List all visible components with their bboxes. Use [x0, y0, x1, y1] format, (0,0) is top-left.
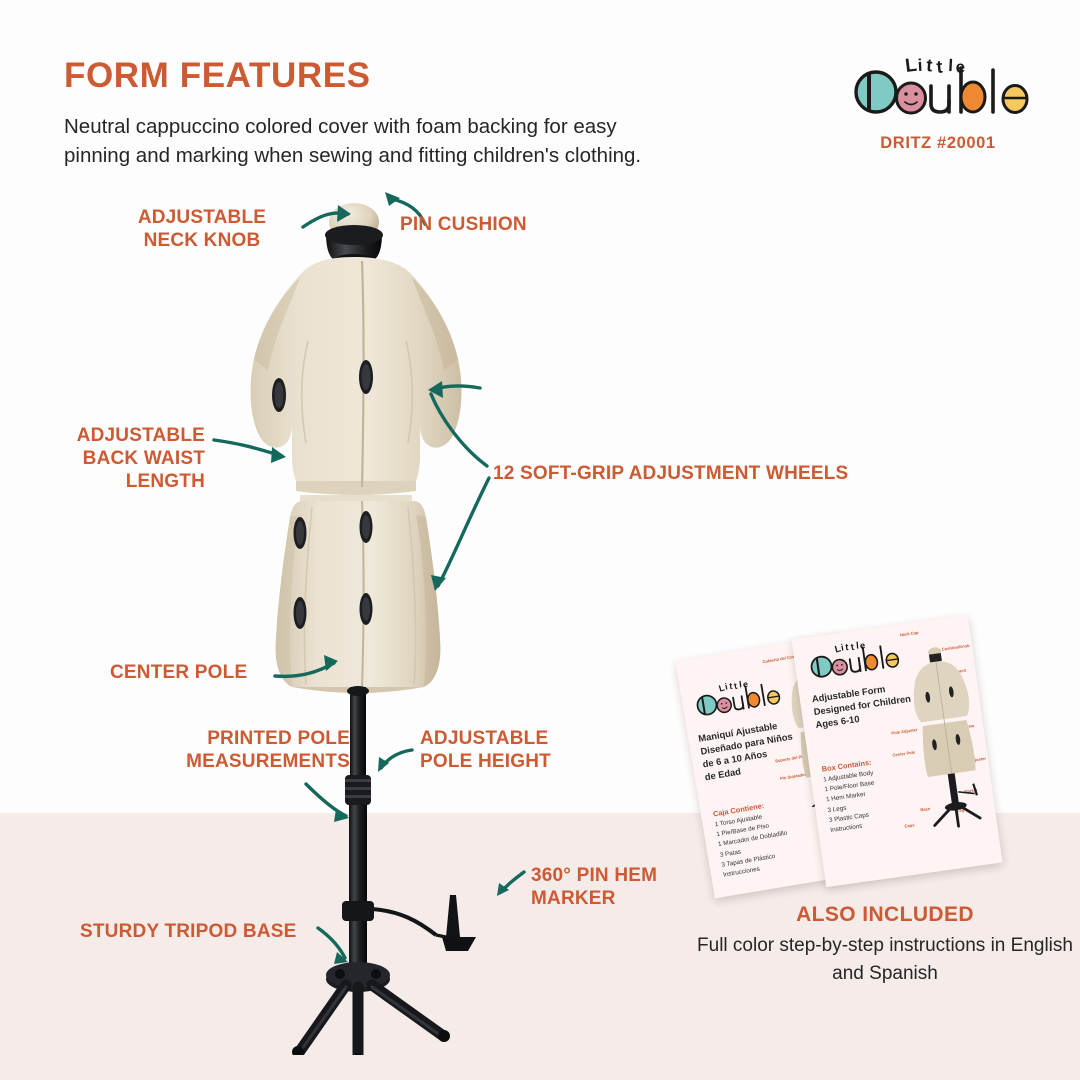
sku-label: DRITZ #20001: [843, 134, 1033, 153]
card-english-logo: L i t t l e: [802, 633, 902, 684]
card-spanish-logo: L i t t l e: [688, 671, 785, 722]
also-included-body: Full color step-by-step instructions in …: [690, 932, 1080, 987]
svg-text:l: l: [948, 56, 954, 75]
callout-soft-grip-adjustment-wheels: 12 SOFT-GRIP ADJUSTMENT WHEELS: [493, 462, 893, 485]
svg-text:t: t: [936, 57, 944, 77]
brand-logo: L i t t l e: [843, 48, 1033, 120]
also-included-title: ALSO INCLUDED: [700, 903, 1070, 927]
callout-adjustable-neck-knob: ADJUSTABLE NECK KNOB: [108, 206, 296, 252]
callout-adjustable-back-waist-length: ADJUSTABLE BACK WAIST LENGTH: [40, 424, 205, 494]
infographic-canvas: FORM FEATURES Neutral cappuccino colored…: [0, 0, 1080, 1080]
card-english-tip-neck-cap: Neck Cap: [900, 630, 919, 638]
callout-sturdy-tripod-base: STURDY TRIPOD BASE: [80, 920, 310, 943]
callout-printed-pole-measurements: PRINTED POLE MEASUREMENTS: [150, 727, 350, 773]
instruction-card-english: L i t t l e: [791, 615, 1002, 887]
card-english-tip-caps: Caps: [904, 822, 915, 828]
page-subtitle: Neutral cappuccino colored cover with fo…: [64, 112, 684, 170]
svg-text:i: i: [917, 56, 923, 75]
callout-center-pole: CENTER POLE: [110, 661, 270, 684]
svg-text:i: i: [840, 642, 845, 653]
callout-pin-cushion: PIN CUSHION: [400, 213, 600, 236]
svg-text:t: t: [845, 642, 850, 653]
page-title: FORM FEATURES: [64, 56, 371, 96]
svg-text:t: t: [926, 55, 933, 75]
callout-adjustable-pole-height: ADJUSTABLE POLE HEIGHT: [420, 727, 600, 773]
instruction-cards-group: L i t t l e: [690, 612, 1030, 902]
svg-text:t: t: [733, 681, 738, 691]
